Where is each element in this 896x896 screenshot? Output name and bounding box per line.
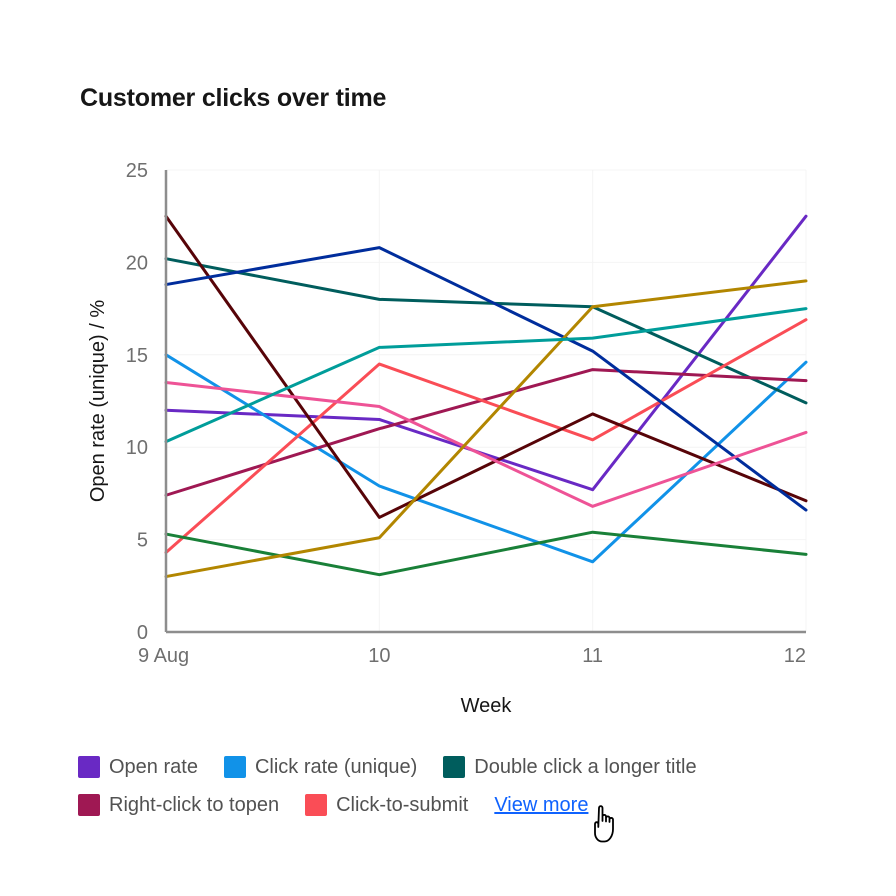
page-title: Customer clicks over time xyxy=(80,84,386,113)
legend-row: Open rateClick rate (unique)Double click… xyxy=(78,748,868,786)
x-tick-label: 9 Aug xyxy=(138,645,189,667)
series-line xyxy=(166,355,806,562)
series-line xyxy=(166,532,806,575)
legend-item-label: Click-to-submit xyxy=(336,794,468,816)
x-tick-label: 11 xyxy=(582,645,603,667)
legend-color-swatch xyxy=(443,756,465,778)
plot-area: 0510152025 9 Aug101112 Week Open rate (u… xyxy=(0,140,896,740)
series-line xyxy=(166,248,806,510)
y-tick-label: 5 xyxy=(137,530,148,552)
legend-item-label: Open rate xyxy=(109,756,198,778)
series-lines xyxy=(166,216,806,576)
legend-item[interactable]: Click rate (unique) xyxy=(224,756,417,778)
x-tick-label: 10 xyxy=(368,645,390,667)
y-tick-label: 25 xyxy=(126,160,148,182)
x-tick-labels: 9 Aug101112 xyxy=(138,645,806,667)
series-line xyxy=(166,259,806,403)
series-line xyxy=(166,216,806,517)
legend-color-swatch xyxy=(305,794,327,816)
chart-card: Customer clicks over time 0510152025 9 A… xyxy=(0,0,896,896)
x-axis-title: Week xyxy=(461,695,513,717)
view-more-link[interactable]: View more xyxy=(494,794,588,816)
legend-color-swatch xyxy=(78,794,100,816)
legend-item[interactable]: Open rate xyxy=(78,756,198,778)
x-tick-label: 12 xyxy=(784,645,806,667)
line-chart-svg: 0510152025 9 Aug101112 Week Open rate (u… xyxy=(0,140,896,740)
legend-item[interactable]: Click-to-submit xyxy=(305,794,468,816)
legend-item-label: Right-click to topen xyxy=(109,794,279,816)
chart-legend: Open rateClick rate (unique)Double click… xyxy=(78,748,868,824)
legend-item[interactable]: Right-click to topen xyxy=(78,794,279,816)
y-tick-label: 0 xyxy=(137,622,148,644)
legend-item-label: Double click a longer title xyxy=(474,756,696,778)
legend-color-swatch xyxy=(224,756,246,778)
y-tick-label: 20 xyxy=(126,252,148,274)
y-tick-label: 10 xyxy=(126,437,148,459)
y-tick-label: 15 xyxy=(126,345,148,367)
legend-row: Right-click to topenClick-to-submitView … xyxy=(78,786,868,824)
series-line xyxy=(166,370,806,496)
y-tick-labels: 0510152025 xyxy=(126,160,148,644)
legend-item[interactable]: Double click a longer title xyxy=(443,756,696,778)
series-line xyxy=(166,281,806,577)
legend-color-swatch xyxy=(78,756,100,778)
legend-item-label: Click rate (unique) xyxy=(255,756,417,778)
y-axis-title: Open rate (unique) / % xyxy=(87,300,109,503)
